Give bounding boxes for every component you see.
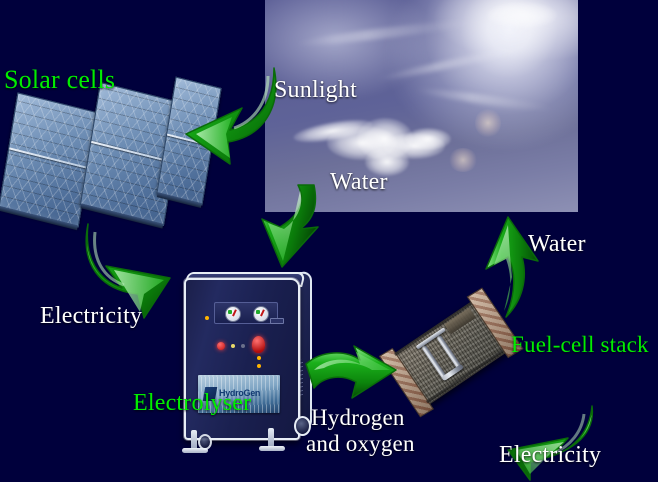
indicator-led-amber: [257, 356, 261, 360]
label-fuel-cell-stack: Fuel-cell stack: [511, 333, 649, 357]
label-water-right: Water: [528, 232, 586, 257]
electrolyser-machine: HydroGen: [176, 268, 311, 458]
label-hydrogen-line1: Hydrogen: [311, 406, 405, 430]
indicator-led-red: [217, 342, 225, 350]
indicator-led-amber: [257, 364, 261, 368]
diagram-canvas: HydroGen: [0, 0, 658, 482]
electrolyser-leg: [268, 428, 274, 448]
indicator-led-yellow: [231, 344, 235, 348]
arrow-electrolyser-to-fuel-cell: [302, 344, 400, 410]
pressure-gauge-icon: [253, 306, 269, 322]
port-connector: [270, 318, 284, 324]
indicator-led-amber: [205, 316, 209, 320]
arrow-sunlight-to-solar-cells: [178, 62, 284, 166]
electrolyser-wheel: [198, 434, 212, 450]
sky-photograph: [265, 0, 578, 212]
electrolyser-foot: [259, 446, 285, 451]
electrolyser-gauge-panel: [214, 302, 278, 324]
label-electricity-bottom: Electricity: [499, 443, 601, 468]
arrow-water-to-electrolyser: [256, 183, 342, 275]
label-solar-cells: Solar cells: [4, 66, 115, 94]
indicator-led-off: [241, 344, 245, 348]
label-electricity-left: Electricity: [40, 304, 142, 329]
electrolyser-leg: [191, 430, 197, 450]
label-electrolyser: Electrolyser: [133, 391, 251, 416]
power-knob[interactable]: [252, 336, 265, 353]
label-sunlight: Sunlight: [274, 78, 357, 103]
label-hydrogen-line2: and oxygen: [306, 432, 415, 456]
pressure-gauge-icon: [225, 306, 241, 322]
label-water-top: Water: [330, 170, 388, 195]
